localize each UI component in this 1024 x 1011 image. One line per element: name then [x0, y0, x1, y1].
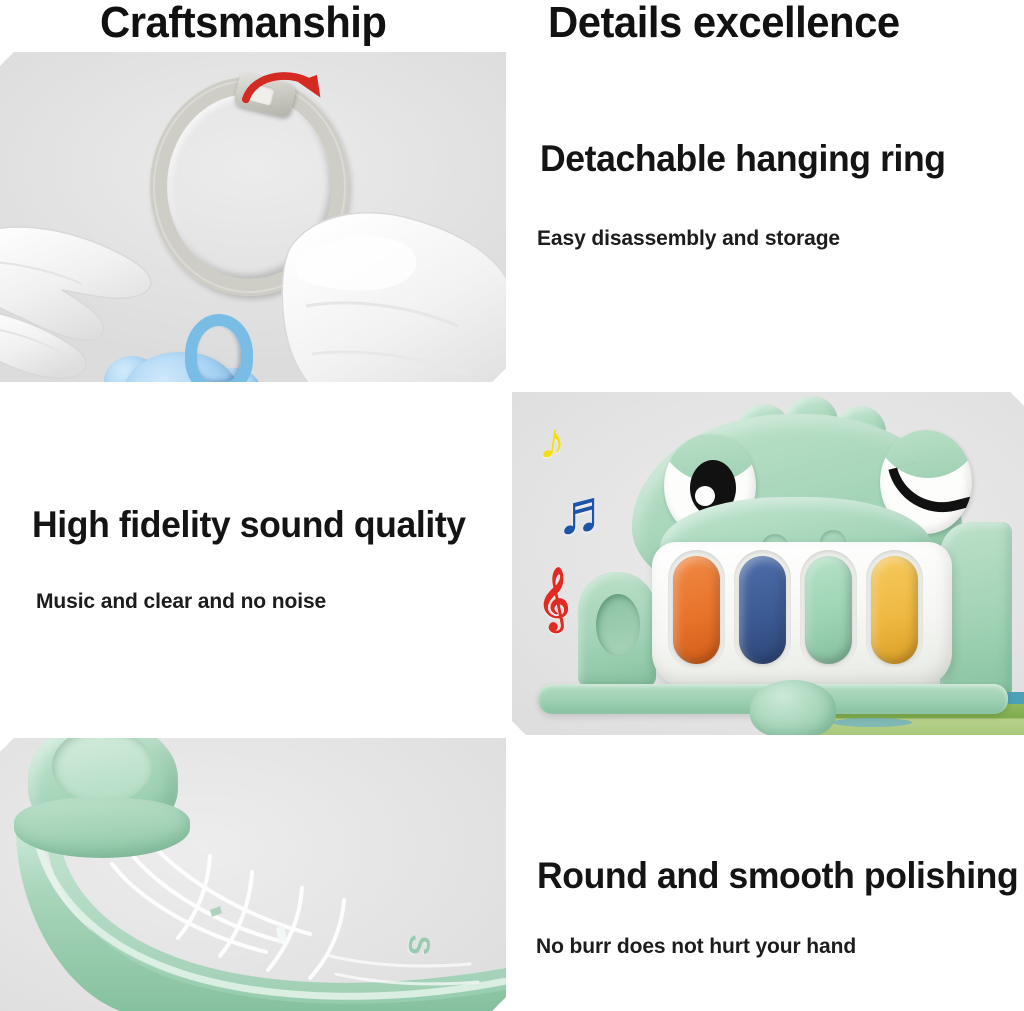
feature-subtitle-round-and-smooth-polishing: No burr does not hurt your hand — [536, 935, 856, 959]
frog-support-leg-left — [578, 572, 656, 687]
feature-subtitle-high-fidelity-sound-quality: Music and clear and no noise — [36, 590, 326, 614]
rotate-arrow-icon — [232, 68, 336, 120]
arch-collar — [14, 798, 190, 858]
piano-keyboard-panel — [652, 542, 952, 687]
beamed-notes-icon: ♬ — [556, 482, 618, 544]
feature-subtitle-detachable-hanging-ring: Easy disassembly and storage — [537, 227, 840, 251]
feature-title-detachable-hanging-ring: Detachable hanging ring — [540, 138, 946, 180]
leg-opening — [596, 594, 640, 656]
piano-key-orange[interactable] — [673, 556, 720, 664]
arch-emboss-mark: S — [400, 933, 436, 956]
header-details-excellence: Details excellence — [548, 0, 900, 48]
image-panel-hanging-ring — [0, 52, 506, 382]
treble-clef-icon: 𝄞 — [538, 572, 570, 626]
piano-key-blue[interactable] — [739, 556, 786, 664]
infographic-page: Craftsmanship Details excellence — [0, 0, 1024, 1011]
center-knob — [750, 680, 836, 735]
piano-key-yellow[interactable] — [871, 556, 918, 664]
image-panel-polished-arch: S — [0, 738, 506, 1011]
header-craftsmanship: Craftsmanship — [100, 0, 386, 48]
feature-title-round-and-smooth-polishing: Round and smooth polishing — [537, 855, 1018, 897]
glove-right-icon — [272, 202, 506, 382]
piano-key-green[interactable] — [805, 556, 852, 664]
feature-title-high-fidelity-sound-quality: High fidelity sound quality — [32, 504, 466, 546]
image-panel-frog-piano: ♪ ♬ 𝄞 ♮ — [512, 392, 1024, 735]
